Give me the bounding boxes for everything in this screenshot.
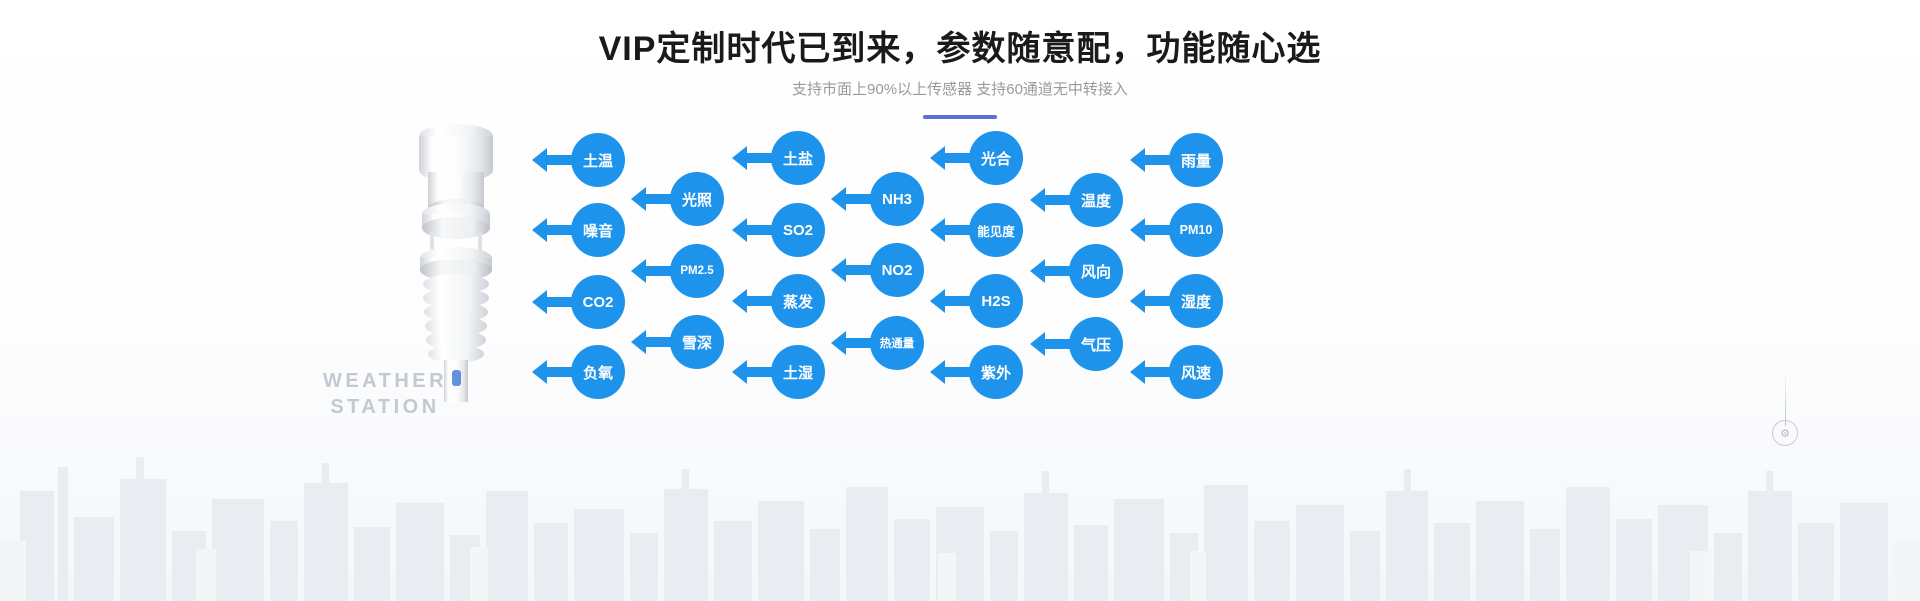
sensor-badge[interactable]: 土湿 bbox=[771, 345, 825, 399]
sensor-badge[interactable]: 气压 bbox=[1069, 317, 1123, 371]
arrow-left-icon bbox=[731, 143, 777, 173]
sensor-badge[interactable]: 噪音 bbox=[571, 203, 625, 257]
sensor-badge-label: 紫外 bbox=[981, 362, 1011, 383]
arrow-left-icon bbox=[531, 357, 577, 387]
arrow-left-icon bbox=[929, 215, 975, 245]
arrow-left-icon bbox=[929, 286, 975, 316]
sensor-badge[interactable]: 雪深 bbox=[670, 315, 724, 369]
arrow-left-icon bbox=[830, 184, 876, 214]
sensor-badge[interactable]: PM10 bbox=[1169, 203, 1223, 257]
sensor-badge-label: NH3 bbox=[882, 191, 912, 208]
sensor-badge-label: H2S bbox=[981, 293, 1010, 310]
sensor-badge-label: SO2 bbox=[783, 222, 813, 239]
sensor-badge[interactable]: 热通量 bbox=[870, 316, 924, 370]
sensor-badge[interactable]: SO2 bbox=[771, 203, 825, 257]
sensor-badge-label: 风向 bbox=[1081, 261, 1111, 282]
sensor-badge[interactable]: 负氧 bbox=[571, 345, 625, 399]
sensor-badge-label: 湿度 bbox=[1181, 291, 1211, 312]
arrow-left-icon bbox=[531, 215, 577, 245]
sensor-badge-label: 噪音 bbox=[583, 220, 613, 241]
arrow-left-icon bbox=[1029, 329, 1075, 359]
arrow-left-icon bbox=[1129, 286, 1175, 316]
sensor-badge-label: CO2 bbox=[583, 294, 614, 311]
sensor-badge[interactable]: 雨量 bbox=[1169, 133, 1223, 187]
sensor-badge[interactable]: 光合 bbox=[969, 131, 1023, 185]
arrow-left-icon bbox=[731, 286, 777, 316]
arrow-left-icon bbox=[929, 357, 975, 387]
sensor-badge-label: 土温 bbox=[583, 150, 613, 171]
sensor-badge[interactable]: 能见度 bbox=[969, 203, 1023, 257]
promo-banner: VIP定制时代已到来，参数随意配，功能随心选 支持市面上90%以上传感器 支持6… bbox=[0, 0, 1920, 601]
sensor-badge-label: 气压 bbox=[1081, 334, 1111, 355]
sensor-badge[interactable]: 紫外 bbox=[969, 345, 1023, 399]
sensor-badge[interactable]: 温度 bbox=[1069, 173, 1123, 227]
sensor-badge-label: 热通量 bbox=[880, 335, 915, 351]
sensor-badge-label: NO2 bbox=[882, 262, 913, 279]
sensor-badge-label: 能见度 bbox=[977, 221, 1015, 240]
sensor-badge-label: 负氧 bbox=[583, 362, 613, 383]
arrow-left-icon bbox=[1029, 185, 1075, 215]
headline-block: VIP定制时代已到来，参数随意配，功能随心选 支持市面上90%以上传感器 支持6… bbox=[0, 0, 1920, 119]
page-title: VIP定制时代已到来，参数随意配，功能随心选 bbox=[0, 0, 1920, 69]
arrow-left-icon bbox=[630, 184, 676, 214]
sensor-badge-label: 光照 bbox=[682, 189, 712, 210]
sensor-badge[interactable]: 风向 bbox=[1069, 244, 1123, 298]
sensor-badge-label: PM2.5 bbox=[680, 265, 713, 277]
arrow-left-icon bbox=[731, 357, 777, 387]
sensor-badge-label: 土湿 bbox=[783, 362, 813, 383]
page-subtitle: 支持市面上90%以上传感器 支持60通道无中转接入 bbox=[0, 69, 1920, 100]
arrow-left-icon bbox=[531, 145, 577, 175]
arrow-left-icon bbox=[1129, 145, 1175, 175]
arrow-left-icon bbox=[731, 215, 777, 245]
sensor-badge[interactable]: 土盐 bbox=[771, 131, 825, 185]
sensor-badge[interactable]: 光照 bbox=[670, 172, 724, 226]
sensor-badge[interactable]: PM2.5 bbox=[670, 244, 724, 298]
sensor-badge-label: 雪深 bbox=[682, 332, 712, 353]
arrow-left-icon bbox=[830, 255, 876, 285]
accent-divider bbox=[923, 115, 997, 119]
arrow-left-icon bbox=[1029, 256, 1075, 286]
sensor-badge-label: 风速 bbox=[1181, 362, 1211, 383]
sensor-badge[interactable]: CO2 bbox=[571, 275, 625, 329]
arrow-left-icon bbox=[929, 143, 975, 173]
sensor-badge[interactable]: NO2 bbox=[870, 243, 924, 297]
sensor-badge-label: 土盐 bbox=[783, 148, 813, 169]
sensor-badge[interactable]: 风速 bbox=[1169, 345, 1223, 399]
sensor-badge[interactable]: H2S bbox=[969, 274, 1023, 328]
sensor-badge[interactable]: 土温 bbox=[571, 133, 625, 187]
sensor-badge[interactable]: NH3 bbox=[870, 172, 924, 226]
sensor-badge-label: PM10 bbox=[1180, 223, 1213, 237]
sensor-badge-label: 雨量 bbox=[1181, 150, 1211, 171]
arrow-left-icon bbox=[1129, 357, 1175, 387]
arrow-left-icon bbox=[531, 287, 577, 317]
sensor-badge-label: 光合 bbox=[981, 148, 1011, 169]
sensor-badge[interactable]: 湿度 bbox=[1169, 274, 1223, 328]
sensor-badge-label: 蒸发 bbox=[783, 291, 813, 312]
sensor-badge[interactable]: 蒸发 bbox=[771, 274, 825, 328]
arrow-left-icon bbox=[630, 327, 676, 357]
arrow-left-icon bbox=[830, 328, 876, 358]
sensor-badge-label: 温度 bbox=[1081, 190, 1111, 211]
arrow-left-icon bbox=[1129, 215, 1175, 245]
arrow-left-icon bbox=[630, 256, 676, 286]
